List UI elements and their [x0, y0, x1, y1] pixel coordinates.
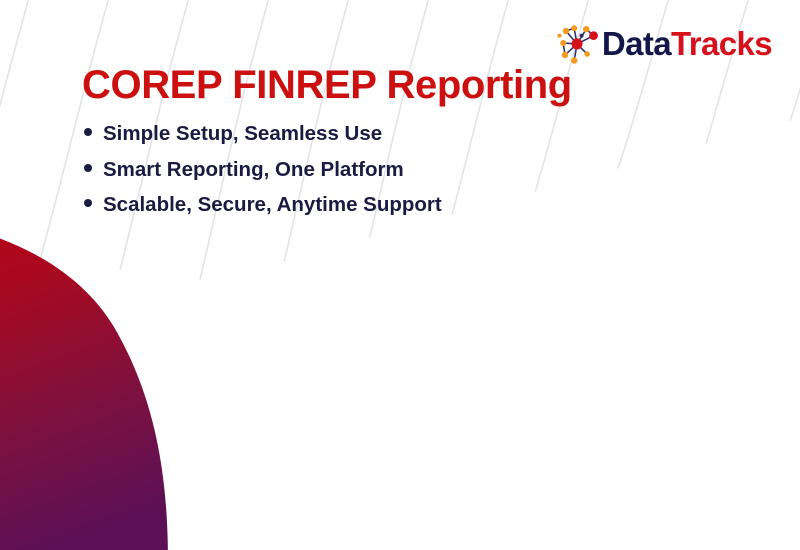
marketing-banner: DataTracks COREP FINREP Reporting Simple…	[0, 0, 800, 550]
list-item-label: Scalable, Secure, Anytime Support	[103, 195, 442, 216]
list-item: Scalable, Secure, Anytime Support	[84, 195, 442, 216]
headline: COREP FINREP Reporting	[82, 64, 572, 106]
brand-crescent-shape	[0, 205, 200, 550]
logo-word-tracks: Tracks	[671, 25, 772, 62]
network-nodes-icon	[554, 20, 600, 66]
bullet-dot-icon	[84, 128, 92, 136]
feature-bullet-list: Simple Setup, Seamless Use Smart Reporti…	[84, 124, 442, 231]
list-item: Simple Setup, Seamless Use	[84, 124, 442, 145]
logo-wordmark: DataTracks	[602, 27, 772, 60]
list-item-label: Smart Reporting, One Platform	[103, 160, 404, 181]
list-item: Smart Reporting, One Platform	[84, 160, 442, 181]
logo-word-data: Data	[602, 25, 671, 62]
datatracks-logo[interactable]: DataTracks	[554, 20, 772, 66]
bullet-dot-icon	[84, 164, 92, 172]
list-item-label: Simple Setup, Seamless Use	[103, 124, 382, 145]
bullet-dot-icon	[84, 199, 92, 207]
